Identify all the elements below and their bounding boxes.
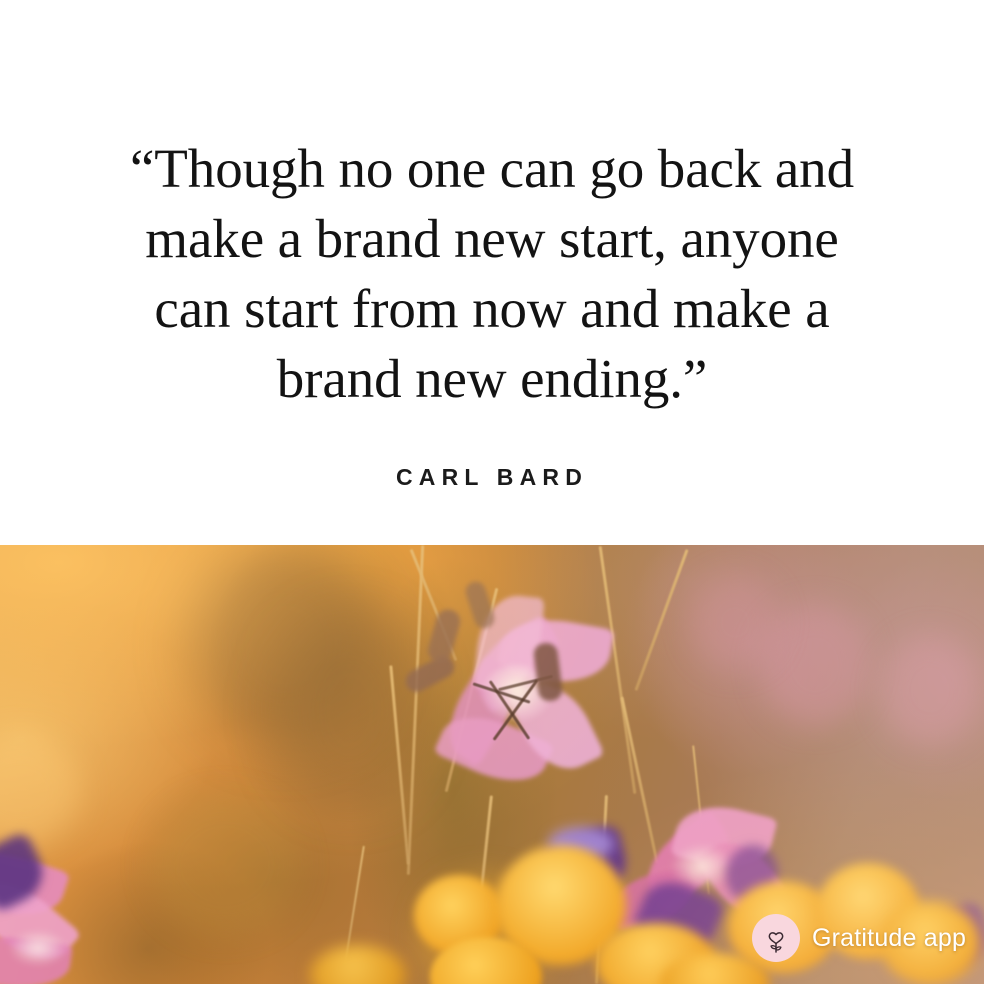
quote-text: “Though no one can go back and make a br… xyxy=(92,134,892,414)
quote-line-2: make a brand new start, anyone xyxy=(92,204,892,274)
quote-image-card: “Though no one can go back and make a br… xyxy=(0,0,984,984)
quote-line-1: “Though no one can go back and xyxy=(92,134,892,204)
photo-wildflower-meadow: Gratitude app xyxy=(0,545,984,984)
quote-author: CARL BARD xyxy=(396,464,588,491)
quote-line-3: can start from now and make a xyxy=(92,274,892,344)
quote-panel: “Though no one can go back and make a br… xyxy=(0,0,984,545)
watermark-gratitude-app[interactable]: Gratitude app xyxy=(752,914,966,962)
watermark-label: Gratitude app xyxy=(812,924,966,953)
watermark-badge xyxy=(752,914,800,962)
quote-line-4: brand new ending.” xyxy=(92,344,892,414)
heart-flower-icon xyxy=(761,922,791,954)
